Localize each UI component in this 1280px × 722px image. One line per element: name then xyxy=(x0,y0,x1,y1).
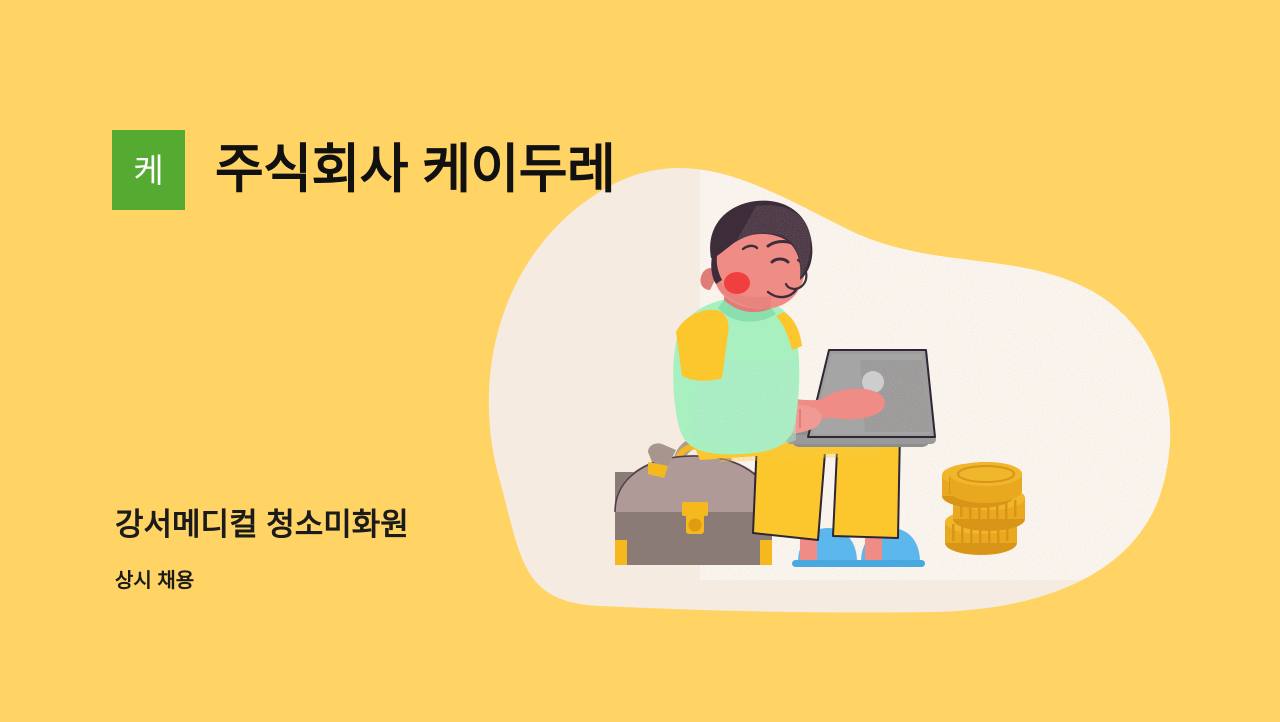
coin-stack-icon xyxy=(942,462,1025,555)
company-name: 주식회사 케이두레 xyxy=(215,142,615,198)
background-blob-layer xyxy=(0,0,1280,722)
company-initial-logo-icon: 케 xyxy=(133,154,163,187)
job-title: 강서메디컬 청소미화원 xyxy=(115,506,409,545)
head xyxy=(700,201,812,309)
neck xyxy=(724,268,772,312)
laptop-icon xyxy=(786,350,936,447)
job-posting-banner: 케 주식회사 케이두레 강서메디컬 청소미화원 상시 채용 xyxy=(0,0,1280,722)
arm-and-hands xyxy=(706,366,885,434)
tshirt xyxy=(673,298,802,455)
briefcase-icon xyxy=(615,442,772,565)
pants xyxy=(690,414,900,540)
cream-blob-shape xyxy=(489,168,1170,613)
header: 케 주식회사 케이두레 xyxy=(112,130,615,210)
shoes xyxy=(792,528,925,567)
ankles xyxy=(800,518,882,560)
illustration-person-laptop xyxy=(0,0,1280,722)
company-logo-badge[interactable]: 케 xyxy=(112,130,185,210)
hiring-status: 상시 채용 xyxy=(115,569,409,593)
posting-text-block: 강서메디컬 청소미화원 상시 채용 xyxy=(115,506,409,593)
stool xyxy=(648,443,676,478)
